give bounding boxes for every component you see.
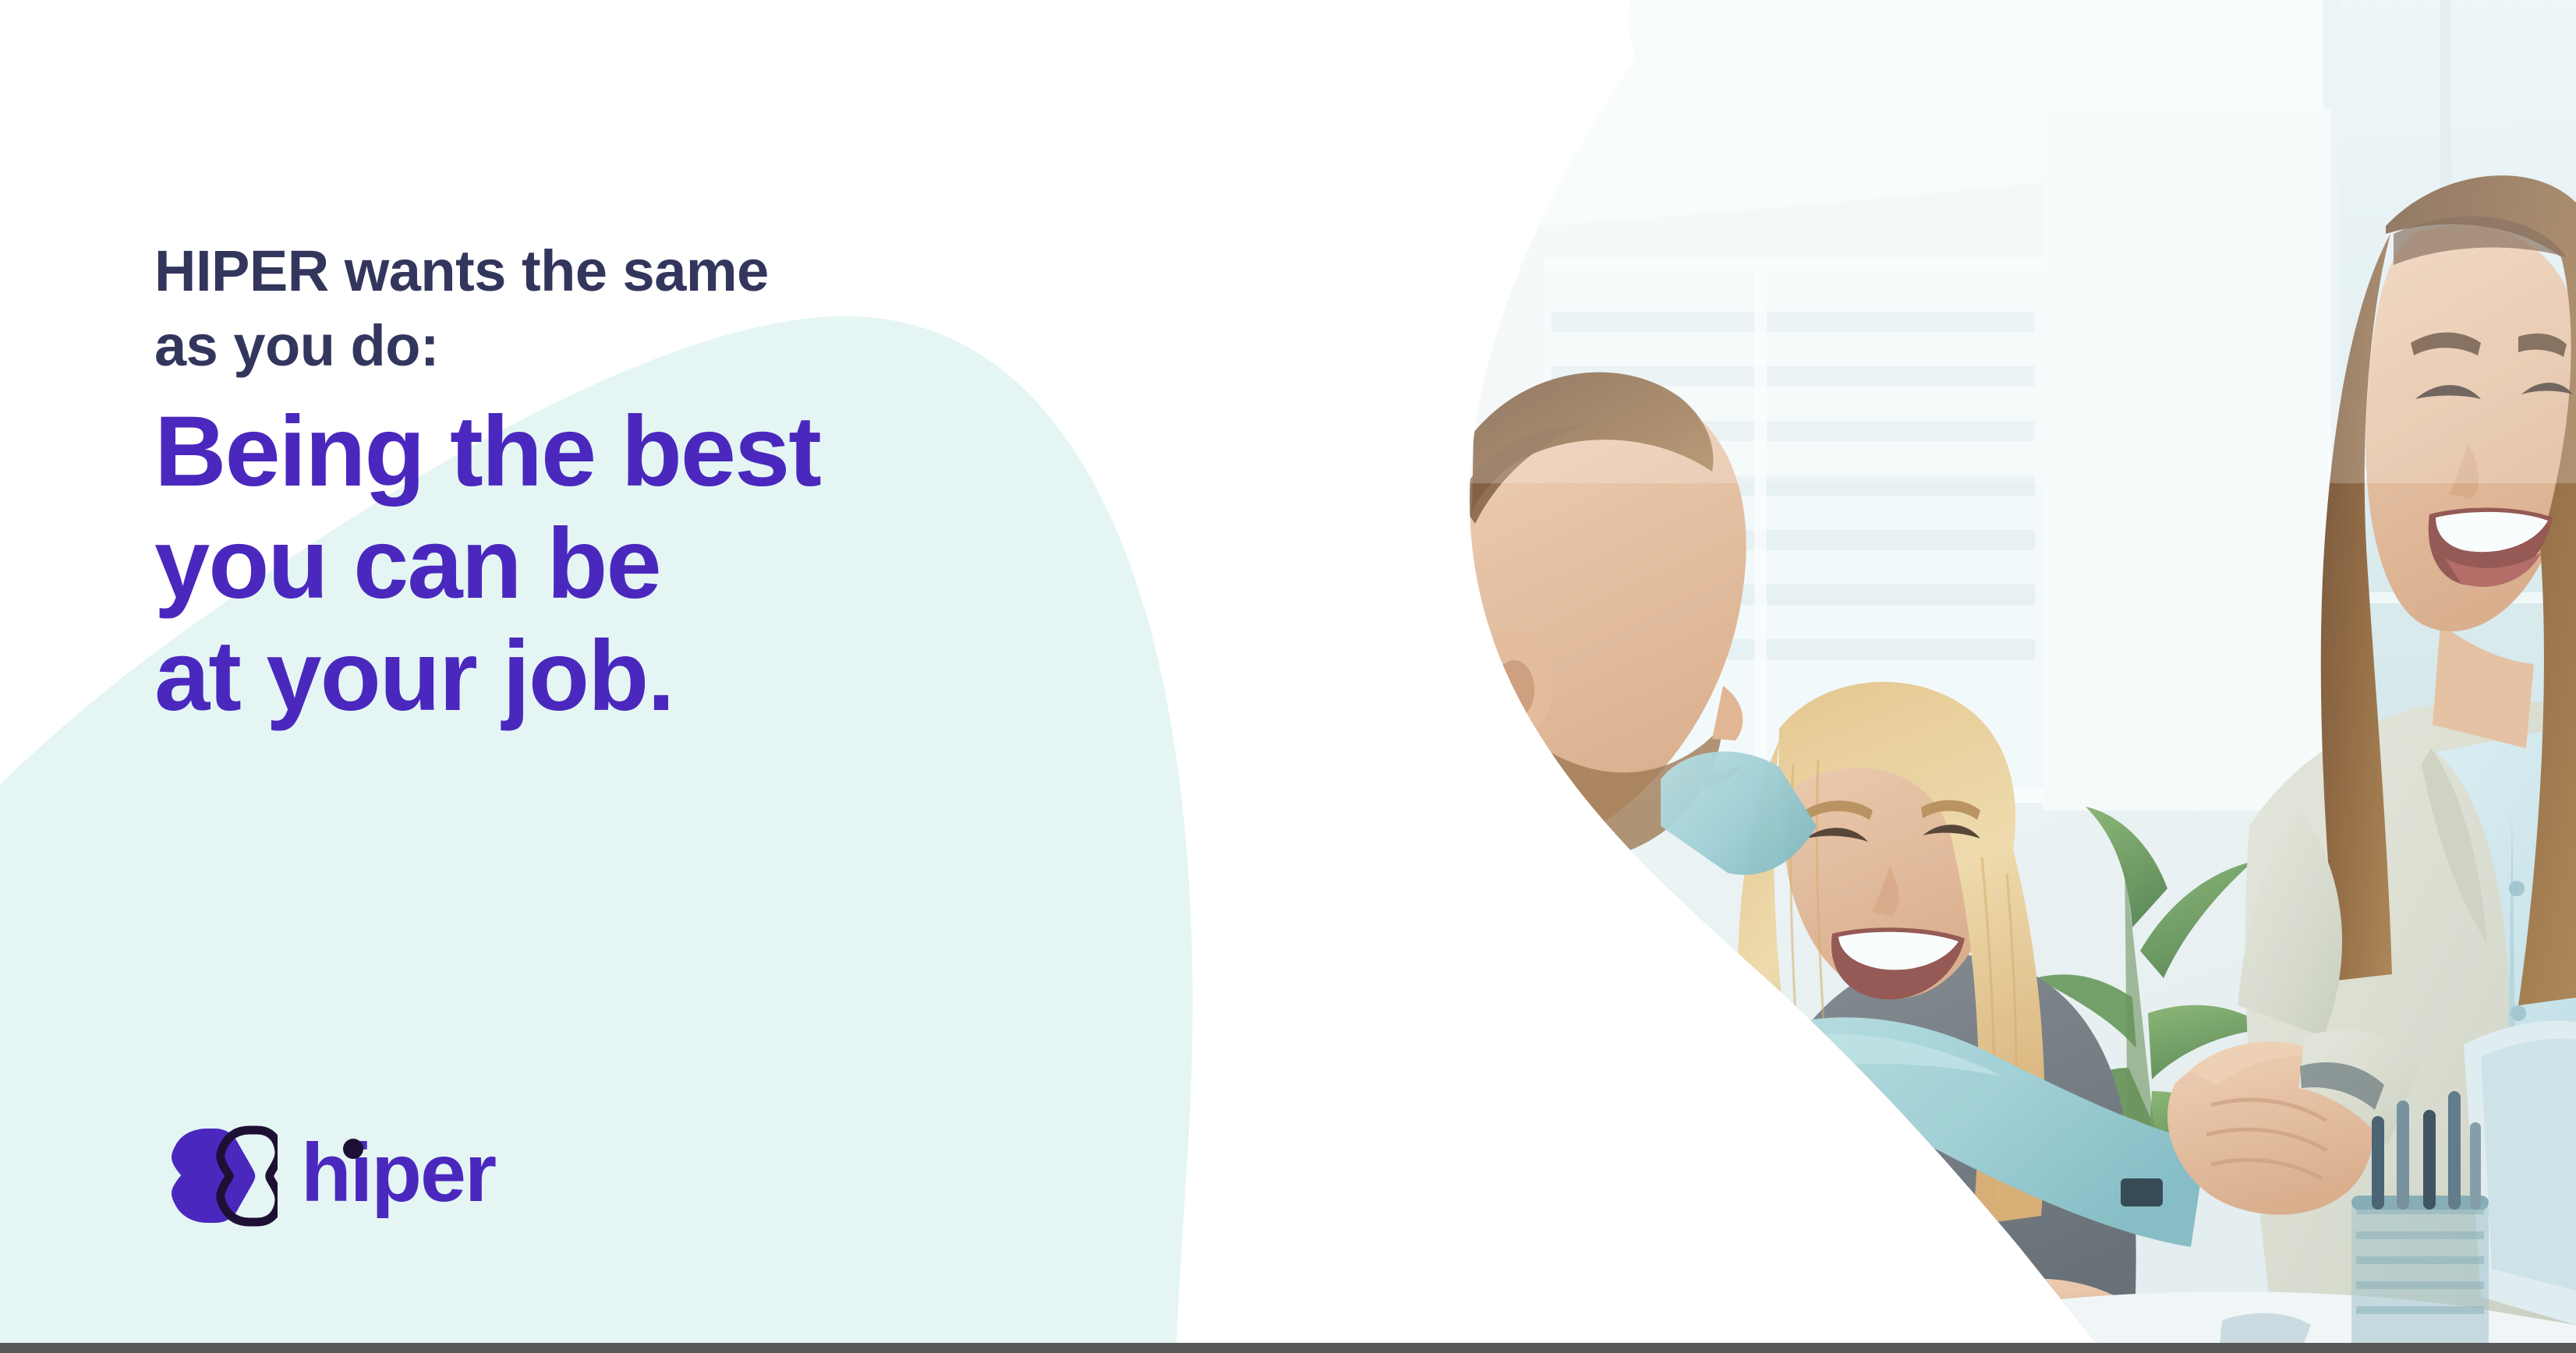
slide-canvas: HIPER wants the same as you do: Being th… <box>0 0 2576 1353</box>
headline-line-1: Being the best <box>154 396 1168 508</box>
eyebrow-line-2: as you do: <box>154 309 1168 383</box>
hiper-logo[interactable]: hiper <box>153 1121 511 1234</box>
headline-line-3: at your job. <box>154 620 1168 733</box>
headline-block: HIPER wants the same as you do: Being th… <box>154 234 1168 733</box>
page-title: Being the best you can be at your job. <box>154 396 1168 733</box>
headline-line-2: you can be <box>154 508 1168 620</box>
eyebrow-line-1: HIPER wants the same <box>154 234 1168 309</box>
office-handshake-photo <box>1427 0 2576 1353</box>
hiper-infinity-mark-icon <box>153 1121 278 1234</box>
hiper-wordmark: hiper <box>301 1132 511 1222</box>
bottom-bar <box>0 1343 2576 1353</box>
eyebrow-text: HIPER wants the same as you do: <box>154 234 1168 383</box>
svg-text:hiper: hiper <box>301 1132 496 1218</box>
